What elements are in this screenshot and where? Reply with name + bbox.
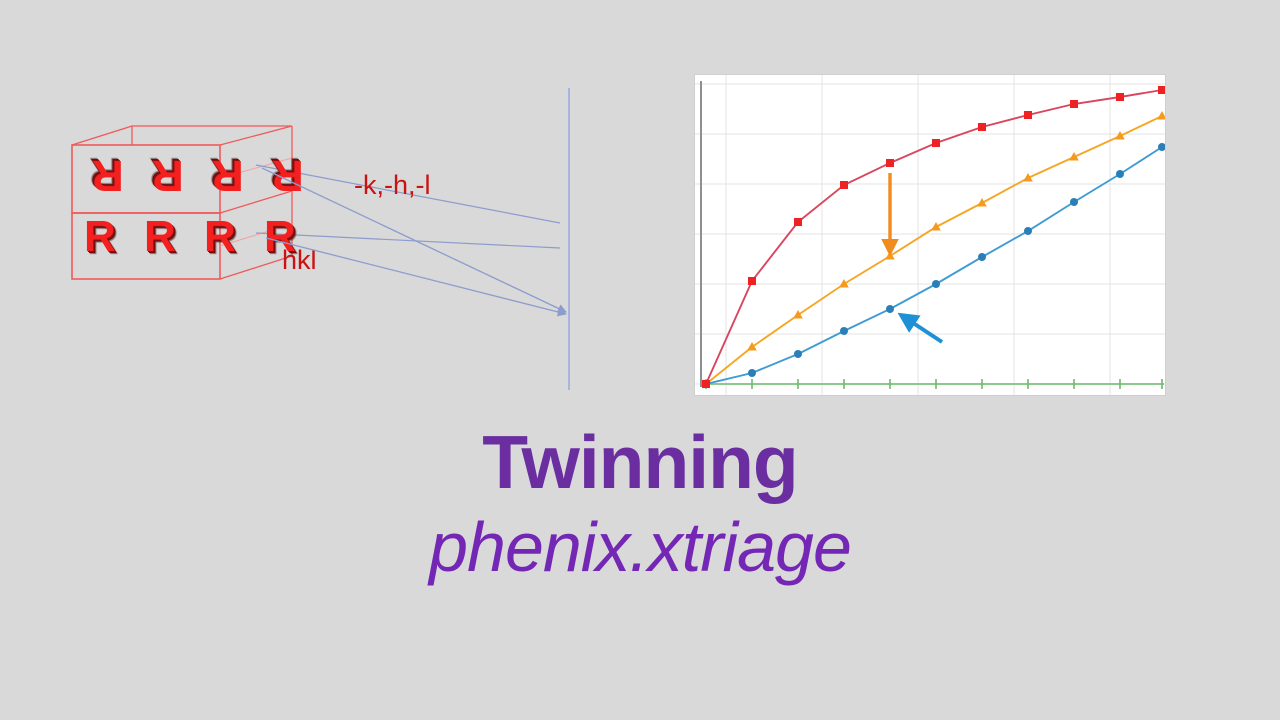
page-subtitle: phenix.xtriage	[0, 509, 1280, 586]
plot-background	[695, 75, 1165, 395]
slide-canvas: R R R R R R R R hkl -k,-h,-l	[0, 0, 1280, 720]
chart-svg	[695, 75, 1165, 395]
title-block: Twinning phenix.xtriage	[0, 424, 1280, 586]
page-title: Twinning	[0, 424, 1280, 501]
converging-rays	[262, 168, 566, 314]
chart-panel	[694, 74, 1166, 396]
